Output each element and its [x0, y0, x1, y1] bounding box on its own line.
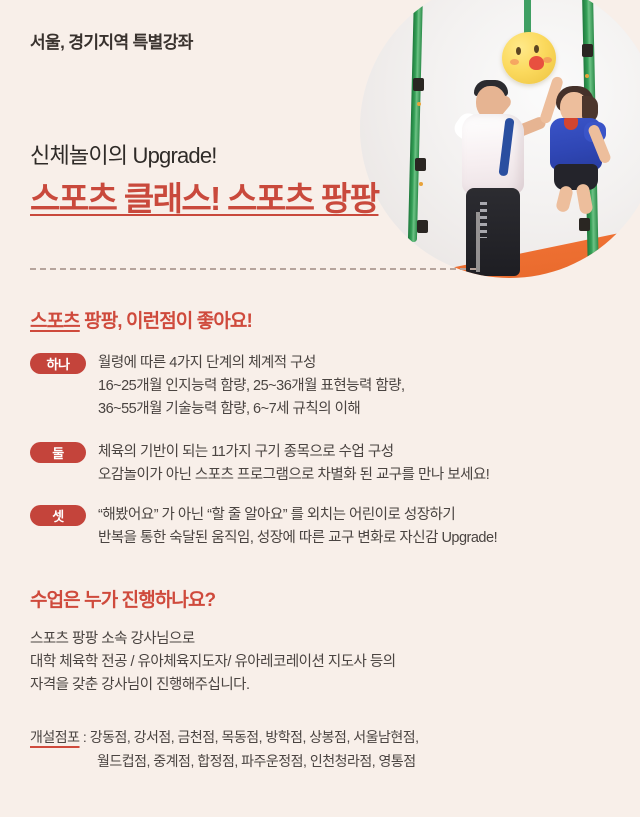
frame-pin — [419, 182, 423, 186]
dashed-divider — [30, 268, 476, 270]
store-list: 개설점포 : 강동점, 강서점, 금천점, 목동점, 방학점, 상봉점, 서울남… — [30, 725, 419, 773]
instructor-line: 자격을 갖춘 강사님이 진행해주십니다. — [30, 674, 396, 697]
hero-title: 스포츠 클래스! 스포츠 팡팡 — [30, 172, 378, 220]
child-shorts — [554, 164, 598, 190]
store-list-row1: 강동점, 강서점, 금천점, 목동점, 방학점, 상봉점, 서울남현점, — [90, 729, 419, 745]
instructor-heading: 수업은 누가 진행하나요? — [30, 585, 215, 612]
benefits-heading-rest: 팡팡, 이런점이 좋아요! — [80, 311, 252, 332]
frame-joint — [413, 78, 424, 91]
benefit-line: “해봤어요” 가 아닌 “할 줄 알아요” 를 외치는 어린이로 성장하기 — [98, 504, 610, 527]
hero-subtitle: 신체놀이의 Upgrade! — [30, 138, 217, 170]
benefit-item: 셋 “해봤어요” 가 아닌 “할 줄 알아요” 를 외치는 어린이로 성장하기 … — [30, 504, 610, 550]
benefit-lines: “해봤어요” 가 아닌 “할 줄 알아요” 를 외치는 어린이로 성장하기 반복… — [98, 504, 610, 550]
store-list-row: 월드컵점, 중계점, 합정점, 파주운정점, 인천청라점, 영통점 — [97, 749, 419, 773]
benefit-badge: 셋 — [30, 505, 86, 526]
instructor-lines: 스포츠 팡팡 소속 강사님으로 대학 체육학 전공 / 유아체육지도자/ 유아레… — [30, 628, 396, 697]
coach-pants-logo — [480, 202, 487, 238]
coach-figure — [450, 64, 546, 276]
coach-shirt — [462, 114, 524, 194]
instructor-line: 대학 체육학 전공 / 유아체육지도자/ 유아레코레이션 지도사 등의 — [30, 651, 396, 674]
store-list-label: 개설점포 — [30, 729, 80, 745]
instructor-line: 스포츠 팡팡 소속 강사님으로 — [30, 628, 396, 651]
benefit-line: 반복을 통한 숙달된 움직임, 성장에 따른 교구 변화로 자신감 Upgrad… — [98, 527, 610, 550]
benefit-line: 체육의 기반이 되는 11가지 구기 종목으로 수업 구성 — [98, 441, 610, 464]
benefit-line: 오감놀이가 아닌 스포츠 프로그램으로 차별화 된 교구를 만나 보세요! — [98, 464, 610, 487]
benefit-badge: 하나 — [30, 353, 86, 374]
benefit-line: 36~55개월 기술능력 함량, 6~7세 규칙의 이해 — [98, 398, 610, 421]
store-list-separator: : — [80, 729, 90, 745]
store-list-row: 개설점포 : 강동점, 강서점, 금천점, 목동점, 방학점, 상봉점, 서울남… — [30, 725, 419, 749]
ball-cheek — [543, 57, 552, 63]
benefit-item: 둘 체육의 기반이 되는 11가지 구기 종목으로 수업 구성 오감놀이가 아닌… — [30, 441, 610, 487]
benefit-lines: 월령에 따른 4가지 단계의 체계적 구성 16~25개월 인지능력 함량, 2… — [98, 352, 610, 421]
benefit-badge: 둘 — [30, 442, 86, 463]
hero-section: 서울, 경기지역 특별강좌 신체놀이의 Upgrade! 스포츠 클래스! 스포… — [0, 0, 640, 260]
benefits-heading-underlined: 스포츠 — [30, 311, 80, 332]
ball-eye — [516, 47, 521, 55]
promo-page: 서울, 경기지역 특별강좌 신체놀이의 Upgrade! 스포츠 클래스! 스포… — [0, 0, 640, 817]
eyebrow-text: 서울, 경기지역 특별강좌 — [30, 28, 193, 53]
benefits-heading: 스포츠 팡팡, 이런점이 좋아요! — [30, 306, 252, 333]
frame-pin — [417, 102, 421, 106]
child-leg — [555, 185, 574, 213]
coach-pants — [466, 188, 520, 276]
benefit-line: 월령에 따른 4가지 단계의 체계적 구성 — [98, 352, 610, 375]
child-figure — [538, 74, 624, 214]
hero-photo — [360, 0, 640, 278]
benefit-item: 하나 월령에 따른 4가지 단계의 체계적 구성 16~25개월 인지능력 함량… — [30, 352, 610, 421]
benefit-lines: 체육의 기반이 되는 11가지 구기 종목으로 수업 구성 오감놀이가 아닌 스… — [98, 441, 610, 487]
benefit-line: 16~25개월 인지능력 함량, 25~36개월 표현능력 함량, — [98, 375, 610, 398]
frame-joint — [417, 220, 428, 233]
ball-eye — [534, 45, 539, 53]
frame-left-post — [408, 0, 423, 242]
frame-joint — [582, 44, 593, 57]
frame-joint — [579, 218, 590, 231]
frame-joint — [415, 158, 426, 171]
